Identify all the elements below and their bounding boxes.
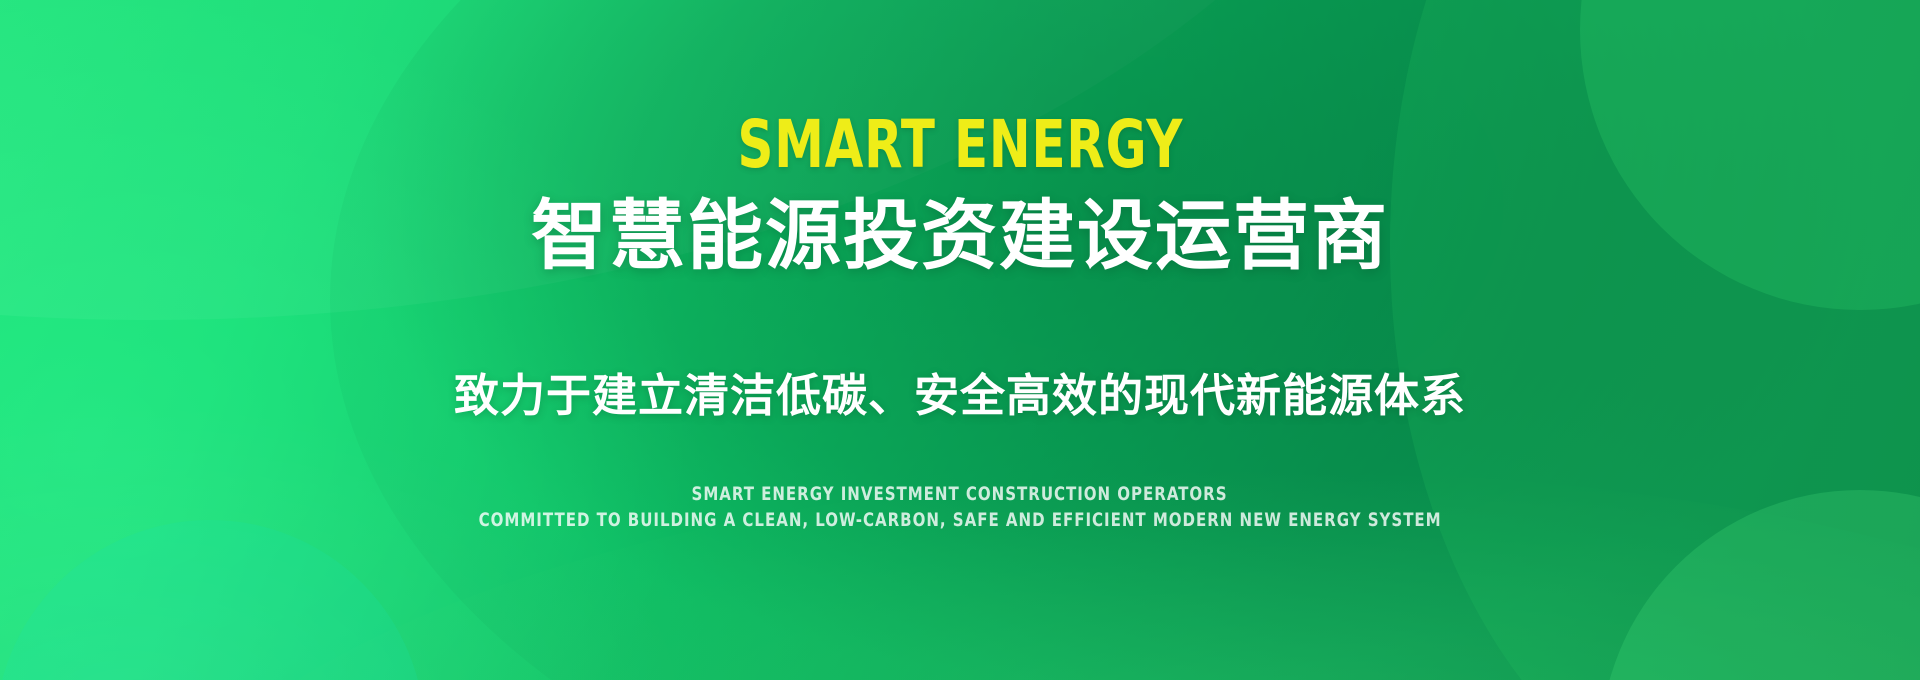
banner-content: SMART ENERGY 智慧能源投资建设运营商 致力于建立清洁低碳、安全高效的… — [0, 0, 1920, 680]
hero-banner: SMART ENERGY 智慧能源投资建设运营商 致力于建立清洁低碳、安全高效的… — [0, 0, 1920, 680]
banner-eyebrow-english: SMART ENERGY — [737, 112, 1183, 178]
banner-english-captions: SMART ENERGY INVESTMENT CONSTRUCTION OPE… — [413, 484, 1507, 533]
banner-english-caption-line-1: SMART ENERGY INVESTMENT CONSTRUCTION OPE… — [692, 484, 1228, 506]
banner-subheadline-chinese: 致力于建立清洁低碳、安全高效的现代新能源体系 — [454, 371, 1466, 421]
banner-english-caption-line-2: COMMITTED TO BUILDING A CLEAN, LOW-CARBO… — [479, 510, 1442, 532]
banner-headline-chinese: 智慧能源投资建设运营商 — [531, 196, 1389, 276]
